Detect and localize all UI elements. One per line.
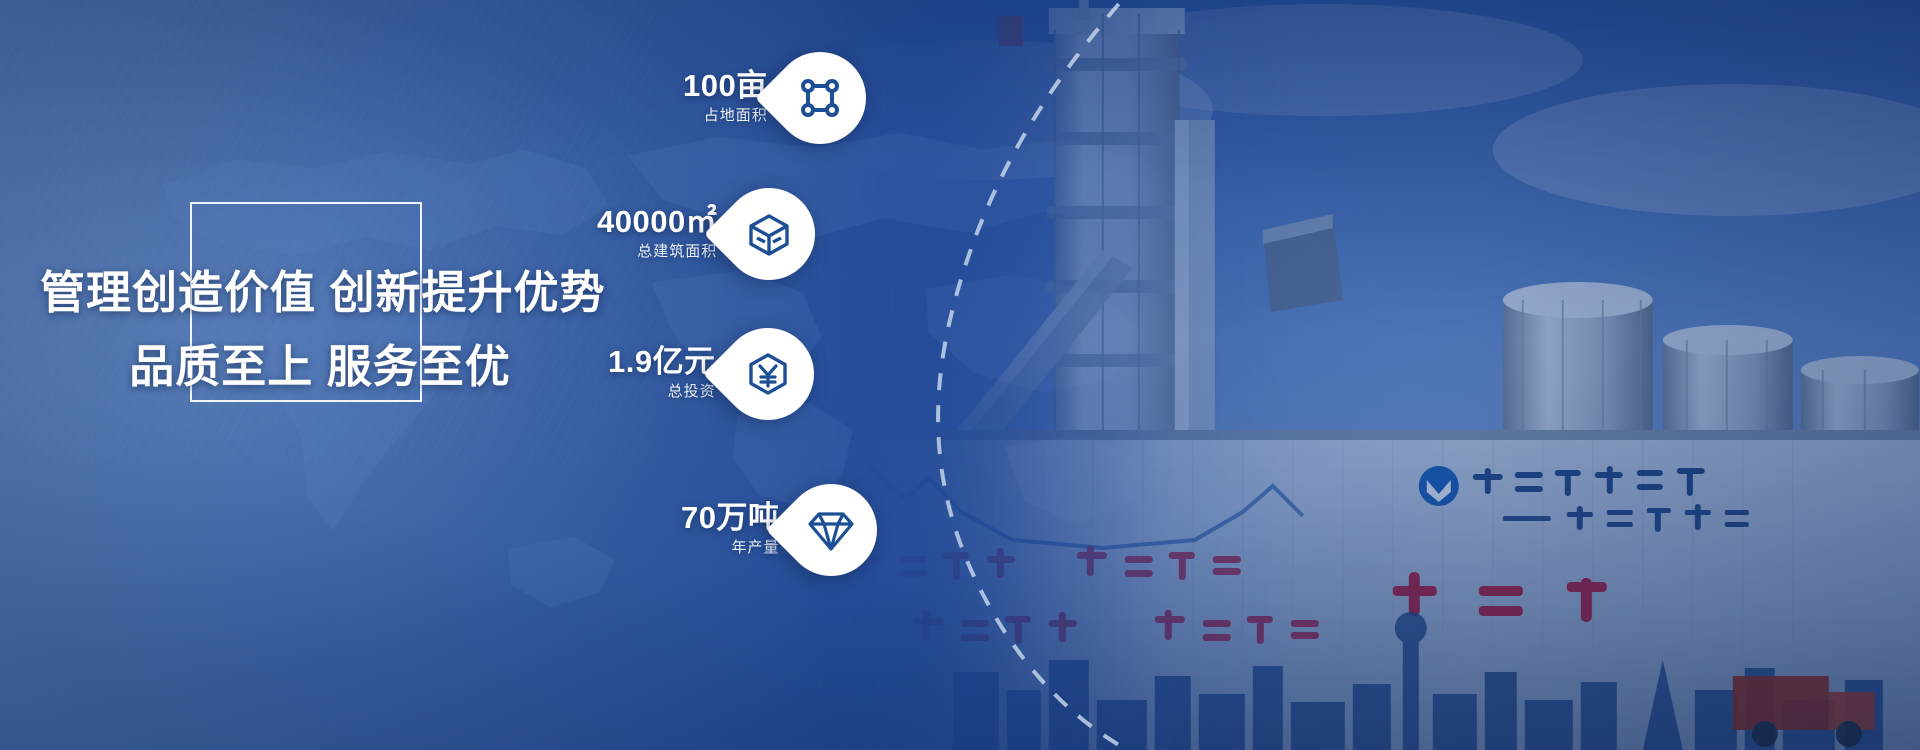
stat-value: 1.9亿元	[608, 345, 716, 379]
headline-line-2: 品质至上 服务至优	[40, 330, 600, 404]
cube-box-icon	[723, 188, 815, 280]
stat-pin[interactable]	[774, 52, 866, 144]
diamond-icon	[785, 484, 877, 576]
stat-label: 总建筑面积	[597, 241, 717, 263]
headline-block: 管理创造价值 创新提升优势 品质至上 服务至优	[40, 198, 600, 404]
hero-banner: 管理创造价值 创新提升优势 品质至上 服务至优 100亩 占地面积	[0, 0, 1920, 750]
stat-item-building-area[interactable]: 40000㎡ 总建筑面积	[597, 188, 815, 280]
stat-pin[interactable]	[722, 328, 814, 420]
stat-label: 年产量	[681, 537, 779, 559]
stat-item-annual-output[interactable]: 70万吨 年产量	[681, 484, 877, 576]
stat-pin[interactable]	[723, 188, 815, 280]
stat-value: 100亩	[683, 69, 768, 103]
land-plot-icon	[774, 52, 866, 144]
stat-value: 40000㎡	[597, 205, 717, 239]
headline-line-1: 管理创造价值 创新提升优势	[40, 256, 600, 330]
stat-label: 总投资	[608, 381, 716, 403]
stat-value: 70万吨	[681, 501, 779, 535]
stat-item-land-area[interactable]: 100亩 占地面积	[683, 52, 866, 144]
stat-label: 占地面积	[683, 105, 768, 127]
stat-pin[interactable]	[785, 484, 877, 576]
stat-item-investment[interactable]: 1.9亿元 总投资	[608, 328, 814, 420]
yuan-hexagon-icon	[722, 328, 814, 420]
